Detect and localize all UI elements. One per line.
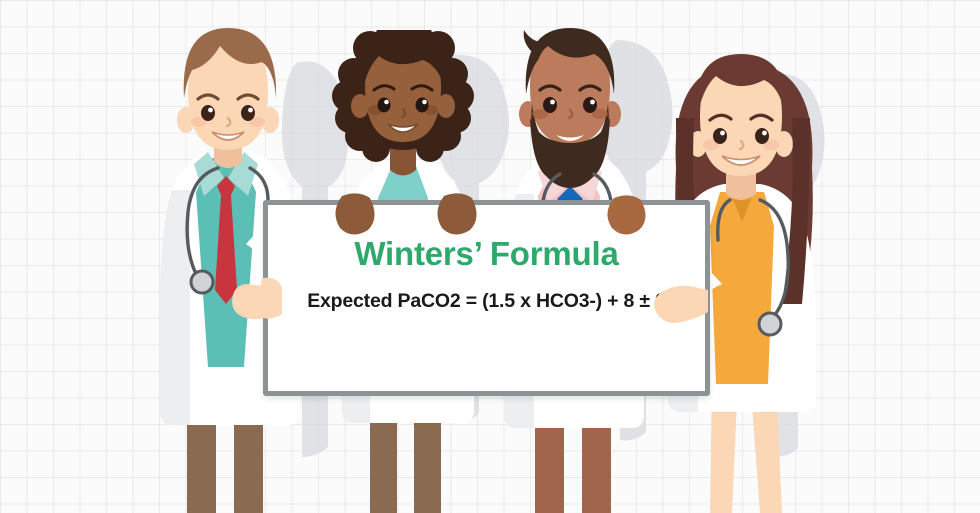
hand-doctor2-left bbox=[335, 193, 374, 234]
hand-doctor2-right bbox=[437, 193, 476, 234]
hand-doctor3-right bbox=[607, 195, 645, 234]
illustration-canvas: Winters’ Formula Expected PaCO2 = (1.5 x… bbox=[0, 0, 980, 513]
hands-layer bbox=[0, 0, 980, 513]
hand-doctor4-left bbox=[654, 286, 708, 323]
hand-doctor1-grip bbox=[258, 278, 282, 319]
